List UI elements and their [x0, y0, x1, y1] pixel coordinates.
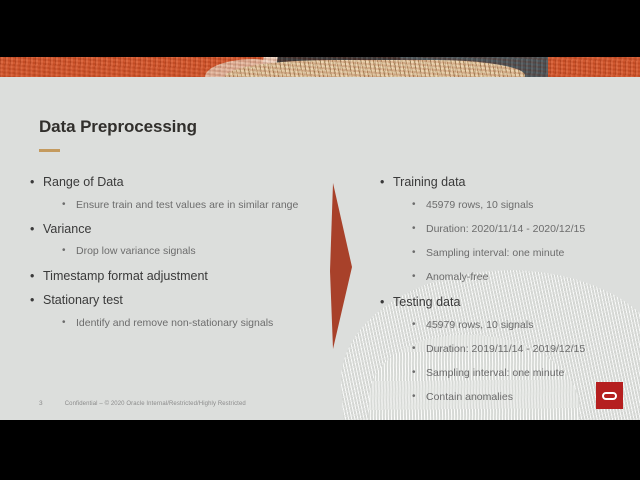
- sub-bullet-label: Sampling interval: one minute: [426, 367, 564, 379]
- sub-bullet-label: 45979 rows, 10 signals: [426, 319, 533, 331]
- bullet-dot-icon: •: [380, 295, 384, 311]
- bullet-dot-icon: •: [30, 269, 34, 285]
- bullet-range-of-data: • Range of Data • Ensure train and test …: [28, 175, 328, 212]
- sub-bullet-label: Anomaly-free: [426, 271, 488, 283]
- bullet-dot-icon: •: [380, 175, 384, 191]
- banner-texture-overlay: [0, 57, 640, 77]
- slide-top-banner: [0, 57, 640, 77]
- sub-bullet-label: Duration: 2019/11/14 - 2019/12/15: [426, 343, 585, 355]
- page-number: 3: [39, 400, 43, 407]
- bullet-training-data: • Training data • 45979 rows, 10 signals…: [378, 175, 628, 284]
- page-title: Data Preprocessing: [39, 117, 197, 137]
- oracle-logo-mark-icon: [602, 392, 617, 400]
- sub-bullet: • Ensure train and test values are in si…: [59, 199, 328, 212]
- bullet-dot-icon: •: [412, 367, 416, 380]
- bullet-dot-icon: •: [412, 247, 416, 260]
- bullet-dot-icon: •: [412, 223, 416, 236]
- bullet-dot-icon: •: [412, 343, 416, 356]
- right-pointing-arrow-icon: [330, 181, 360, 351]
- bullet-testing-data: • Testing data • 45979 rows, 10 signals …: [378, 295, 628, 404]
- sub-bullet-list: • 45979 rows, 10 signals • Duration: 201…: [393, 319, 628, 405]
- sub-bullet: • Sampling interval: one minute: [409, 367, 628, 380]
- right-column: • Training data • 45979 rows, 10 signals…: [378, 175, 628, 415]
- sub-bullet: • 45979 rows, 10 signals: [409, 319, 628, 332]
- bullet-dot-icon: •: [62, 199, 66, 212]
- sub-bullet: • 45979 rows, 10 signals: [409, 199, 628, 212]
- bullet-label: Variance: [43, 222, 91, 236]
- bullet-stationary-test: • Stationary test • Identify and remove …: [28, 293, 328, 330]
- bullet-dot-icon: •: [62, 317, 66, 330]
- bullet-label: Stationary test: [43, 293, 123, 307]
- left-column: • Range of Data • Ensure train and test …: [28, 175, 328, 340]
- bullet-label: Range of Data: [43, 175, 124, 189]
- title-block: Data Preprocessing: [39, 117, 197, 152]
- presentation-slide: Data Preprocessing • Range of Data •: [0, 57, 640, 420]
- sub-bullet-label: Drop low variance signals: [76, 245, 196, 257]
- bullet-timestamp-format-adjustment: • Timestamp format adjustment: [28, 269, 328, 285]
- sub-bullet-list: • Identify and remove non-stationary sig…: [43, 317, 328, 330]
- title-underline-rule: [39, 149, 60, 152]
- bullet-dot-icon: •: [62, 245, 66, 258]
- sub-bullet: • Sampling interval: one minute: [409, 247, 628, 260]
- bullet-dot-icon: •: [412, 319, 416, 332]
- sub-bullet-label: 45979 rows, 10 signals: [426, 199, 533, 211]
- sub-bullet: • Drop low variance signals: [59, 245, 328, 258]
- sub-bullet: • Duration: 2020/11/14 - 2020/12/15: [409, 223, 628, 236]
- bullet-dot-icon: •: [30, 175, 34, 191]
- bullet-dot-icon: •: [412, 271, 416, 284]
- confidentiality-notice: Confidential – © 2020 Oracle Internal/Re…: [65, 401, 246, 407]
- sub-bullet: • Identify and remove non-stationary sig…: [59, 317, 328, 330]
- bullet-dot-icon: •: [412, 391, 416, 404]
- bullet-variance: • Variance • Drop low variance signals: [28, 222, 328, 259]
- left-bullet-list: • Range of Data • Ensure train and test …: [28, 175, 328, 330]
- sub-bullet: • Duration: 2019/11/14 - 2019/12/15: [409, 343, 628, 356]
- oracle-logo: [596, 382, 623, 409]
- bullet-dot-icon: •: [30, 222, 34, 238]
- sub-bullet: • Anomaly-free: [409, 271, 628, 284]
- bullet-dot-icon: •: [30, 293, 34, 309]
- bullet-label: Training data: [393, 175, 466, 189]
- sub-bullet-label: Contain anomalies: [426, 391, 513, 403]
- slide-footer: 3 Confidential – © 2020 Oracle Internal/…: [39, 400, 246, 407]
- right-bullet-list: • Training data • 45979 rows, 10 signals…: [378, 175, 628, 404]
- sub-bullet-label: Identify and remove non-stationary signa…: [76, 317, 273, 329]
- sub-bullet-label: Sampling interval: one minute: [426, 247, 564, 259]
- bullet-label: Timestamp format adjustment: [43, 269, 208, 283]
- sub-bullet-label: Duration: 2020/11/14 - 2020/12/15: [426, 223, 585, 235]
- video-player-frame: Data Preprocessing • Range of Data •: [0, 0, 640, 480]
- sub-bullet-list: • 45979 rows, 10 signals • Duration: 202…: [393, 199, 628, 285]
- bullet-label: Testing data: [393, 295, 460, 309]
- sub-bullet-list: • Ensure train and test values are in si…: [43, 199, 328, 212]
- sub-bullet-label: Ensure train and test values are in simi…: [76, 199, 298, 211]
- sub-bullet-list: • Drop low variance signals: [43, 245, 328, 258]
- bullet-dot-icon: •: [412, 199, 416, 212]
